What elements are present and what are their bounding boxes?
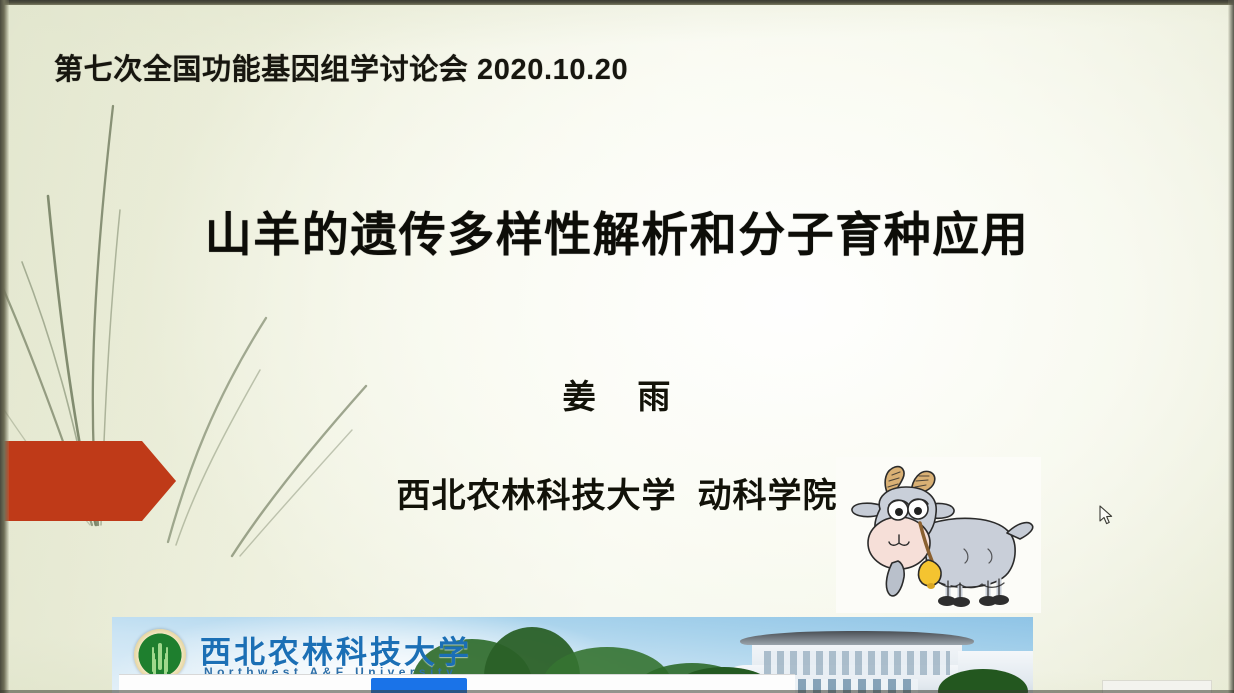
speaker-affiliation: 西北农林科技大学 动科学院 (0, 468, 1234, 517)
frame-edge-right (1228, 0, 1234, 693)
page-title: 山羊的遗传多样性解析和分子育种应用 (0, 196, 1234, 265)
presentation-slide: 第七次全国功能基因组学讨论会 2020.10.20 山羊的遗传多样性解析和分子育… (0, 0, 1234, 693)
campus-building-roof (740, 631, 974, 645)
cartoon-goat-illustration (836, 457, 1041, 613)
building-window-row (764, 651, 950, 675)
conference-header: 第七次全国功能基因组学讨论会 2020.10.20 (54, 46, 628, 88)
frame-edge-left (0, 0, 9, 693)
frame-edge-top (0, 0, 1234, 5)
slide-background-veil (0, 0, 1234, 693)
goat-illustration-card (836, 457, 1041, 613)
speaker-name: 姜 雨 (0, 370, 1234, 418)
